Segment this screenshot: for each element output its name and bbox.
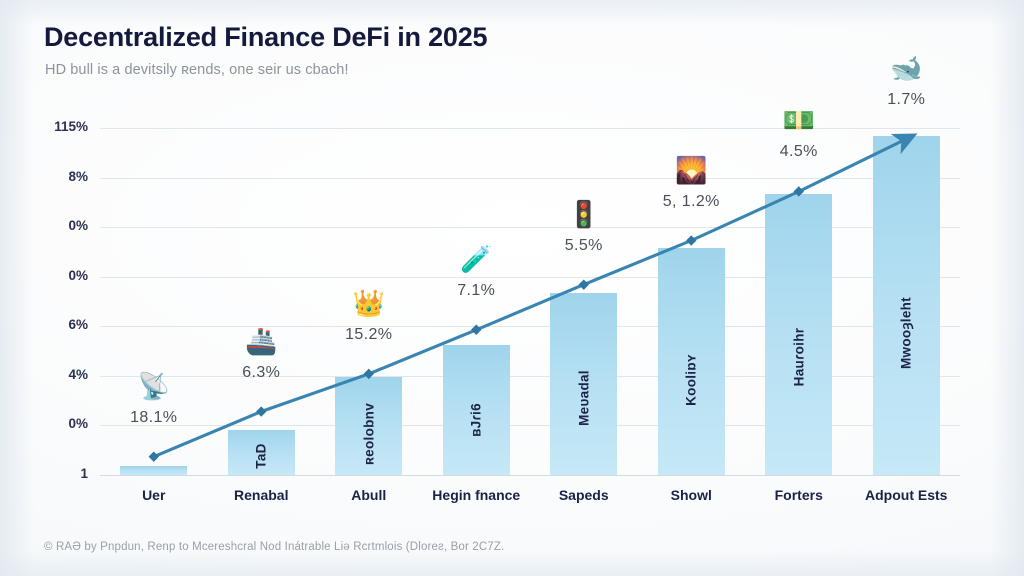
y-axis-tick: 0%	[28, 416, 88, 431]
data-point-label: 6.3%	[242, 364, 280, 382]
x-axis-tick: Sapeds	[559, 487, 609, 503]
data-point-label: 5.5%	[565, 237, 603, 255]
y-axis-tick: 0%	[28, 268, 88, 283]
x-axis-tick: Hegin fnance	[432, 487, 520, 503]
line-marker[interactable]	[794, 186, 804, 196]
line-marker[interactable]	[364, 369, 374, 379]
money-stack-icon: 💵	[779, 103, 819, 137]
flask-icon: 🧪	[456, 242, 496, 276]
trend-line	[100, 68, 960, 488]
mountain-sun-icon: 🌄	[671, 153, 711, 187]
line-marker[interactable]	[149, 451, 159, 461]
x-axis-tick: Forters	[775, 487, 823, 503]
page-title: Decentralized Finance DeFi in 2025	[44, 22, 487, 53]
data-point-label: 7.1%	[457, 282, 495, 300]
data-point-label: 1.7%	[887, 91, 925, 109]
y-axis-tick: 8%	[28, 169, 88, 184]
line-marker[interactable]	[579, 279, 589, 289]
line-marker[interactable]	[471, 325, 481, 335]
data-point-label: 5, 1.2%	[663, 193, 720, 211]
y-axis-tick: 0%	[28, 218, 88, 233]
line-marker[interactable]	[686, 235, 696, 245]
x-axis-tick: Renabal	[234, 487, 288, 503]
x-axis-tick: Adpout Ests	[865, 487, 947, 503]
y-axis-tick: 115%	[28, 119, 88, 134]
crown-gem-icon: 👑	[349, 286, 389, 320]
data-point-label: 18.1%	[130, 409, 177, 427]
traffic-light-icon: 🚦	[564, 197, 604, 231]
line-marker[interactable]	[256, 406, 266, 416]
data-point-label: 15.2%	[345, 326, 392, 344]
footer-caption: © RAƏ by Pnpdun, Renp to Mcereshcral Nod…	[44, 541, 504, 553]
y-axis-tick: 6%	[28, 317, 88, 332]
wifi-signal-icon: 📡	[134, 369, 174, 403]
chart-canvas: Decentralized Finance DeFi in 2025 HD bu…	[0, 0, 1024, 576]
plot-area: 115%8%0%0%6%4%0%1 TaDʀeolobnvʙJɾi6Meᴜada…	[100, 128, 960, 475]
data-point-label: 4.5%	[780, 143, 818, 161]
y-axis-tick: 4%	[28, 367, 88, 382]
x-axis-tick: Showl	[671, 487, 712, 503]
whale-icon: 🐋	[886, 51, 926, 85]
y-axis-tick: 1	[28, 466, 88, 481]
x-axis-tick: Abull	[351, 487, 386, 503]
x-axis-tick: Uer	[142, 487, 165, 503]
ship-icon: 🚢	[241, 324, 281, 358]
